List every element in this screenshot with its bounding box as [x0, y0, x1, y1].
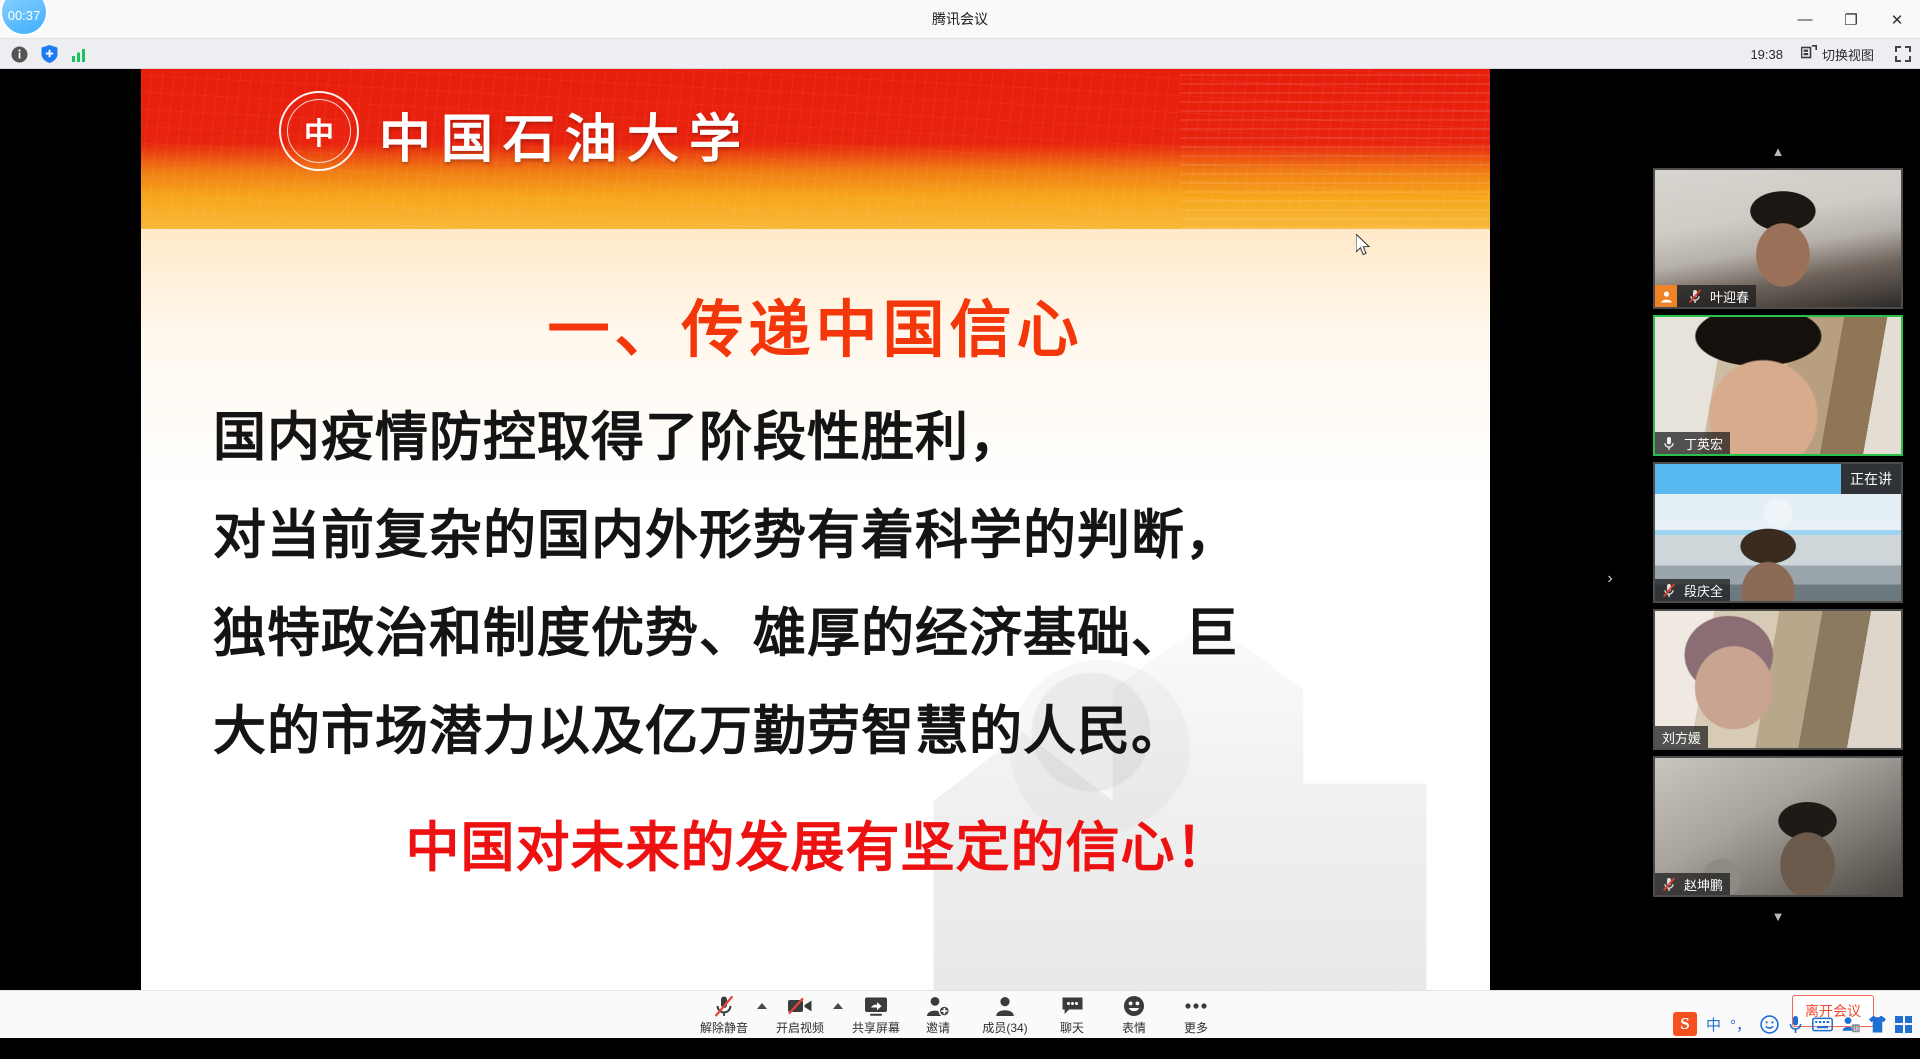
university-name: 中国石油大学	[379, 97, 751, 172]
mic-muted-icon	[1658, 873, 1680, 895]
meeting-meta-bar: 19:38 切换视图	[0, 39, 1920, 69]
meeting-stage: 中 中国石油大学 一、传递中国信心 国内疫情防控取得了阶段性胜利， 对当前复杂的…	[0, 69, 1920, 990]
participant-name-bar: 赵坤鹏	[1655, 873, 1730, 895]
participant-name: 刘方媛	[1655, 728, 1701, 747]
window-title: 腾讯会议	[0, 0, 1920, 39]
ime-punctuation-toggle[interactable]: °，	[1730, 1014, 1751, 1035]
video-options-caret[interactable]	[831, 991, 845, 1039]
start-video-button[interactable]: 开启视频	[769, 991, 831, 1039]
smiley-icon[interactable]	[1760, 1015, 1779, 1034]
slide-line: 对当前复杂的国内外形势有着科学的判断，	[213, 487, 1423, 585]
participant-rail: › ▲ 叶迎春 丁英宏	[1636, 138, 1920, 1059]
unmute-button[interactable]: 解除静音	[693, 991, 755, 1039]
control-label: 表情	[1122, 1019, 1146, 1036]
rail-scroll-down-button[interactable]: ▼	[1636, 903, 1920, 929]
control-label: 成员(34)	[982, 1019, 1027, 1036]
ime-language-toggle[interactable]: 中	[1706, 1014, 1721, 1035]
switch-view-button[interactable]: 切换视图	[1797, 43, 1878, 66]
banner-right-texture	[1180, 69, 1490, 229]
mic-muted-icon	[1684, 285, 1706, 307]
chevron-right-icon[interactable]: ›	[1600, 556, 1620, 602]
participant-tile[interactable]: 刘方媛	[1653, 609, 1903, 750]
apps-grid-icon[interactable]	[1895, 1016, 1912, 1033]
keyboard-icon[interactable]	[1812, 1017, 1833, 1032]
meeting-clock: 19:38	[1750, 47, 1783, 62]
share-screen-button[interactable]: 共享屏幕	[845, 991, 907, 1039]
tshirt-icon[interactable]	[1869, 1016, 1886, 1033]
slide-line: 大的市场潜力以及亿万勤劳智慧的人民。	[213, 683, 1423, 781]
microphone-icon[interactable]	[1788, 1015, 1803, 1034]
svg-text:18: 18	[1853, 1026, 1859, 1032]
participants-button[interactable]: 成员(34)	[969, 991, 1041, 1039]
control-label: 聊天	[1060, 1019, 1084, 1036]
windows-taskbar	[0, 1038, 1920, 1052]
university-crest-icon: 中	[279, 91, 359, 171]
control-label: 更多	[1184, 1019, 1208, 1036]
control-label: 邀请	[926, 1019, 950, 1036]
window-title-bar: 腾讯会议 — ❐ ✕	[0, 0, 1920, 39]
signal-bars-icon[interactable]	[68, 43, 90, 65]
participant-name-bar: 刘方媛	[1655, 726, 1708, 748]
emoji-icon	[1123, 995, 1145, 1018]
speaking-tooltip: 正在讲	[1841, 464, 1901, 494]
control-label: 共享屏幕	[852, 1019, 900, 1036]
participant-name: 段庆全	[1684, 581, 1723, 600]
participant-name-bar: 丁英宏	[1655, 432, 1730, 454]
participant-tile[interactable]: 正在讲 段庆全	[1653, 462, 1903, 603]
participant-tile[interactable]: 丁英宏	[1653, 315, 1903, 456]
minimize-button[interactable]: —	[1782, 0, 1828, 39]
mic-muted-icon	[713, 995, 735, 1018]
participant-tile[interactable]: 叶迎春	[1653, 168, 1903, 309]
shared-slide[interactable]: 中 中国石油大学 一、传递中国信心 国内疫情防控取得了阶段性胜利， 对当前复杂的…	[141, 69, 1490, 990]
invite-user-icon	[926, 995, 950, 1018]
toolbox-icon[interactable]: 18	[1842, 1016, 1860, 1033]
control-label: 开启视频	[776, 1019, 824, 1036]
participant-name: 丁英宏	[1684, 434, 1723, 453]
participant-name: 赵坤鹏	[1684, 875, 1723, 894]
close-button[interactable]: ✕	[1874, 0, 1920, 39]
more-button[interactable]: 更多	[1165, 991, 1227, 1039]
info-icon[interactable]	[8, 43, 30, 65]
slide-accent-line: 中国对未来的发展有坚定的信心！	[213, 799, 1423, 897]
camera-off-icon	[787, 995, 813, 1018]
share-screen-icon	[863, 995, 889, 1018]
slide-line: 国内疫情防控取得了阶段性胜利，	[213, 389, 1423, 487]
meeting-controls-bar: 解除静音 开启视频 共享屏幕 邀请 成员(34)	[0, 990, 1920, 1038]
switch-view-label: 切换视图	[1822, 45, 1874, 64]
chat-icon	[1061, 995, 1084, 1018]
window-controls: — ❐ ✕	[1782, 0, 1920, 39]
mic-muted-icon	[1658, 579, 1680, 601]
emoji-button[interactable]: 表情	[1103, 991, 1165, 1039]
sogou-ime-logo-icon[interactable]: S	[1673, 1012, 1697, 1036]
switch-view-icon	[1801, 45, 1817, 63]
mic-on-icon	[1658, 432, 1680, 454]
slide-body: 一、传递中国信心 国内疫情防控取得了阶段性胜利， 对当前复杂的国内外形势有着科学…	[141, 229, 1490, 990]
ime-toolbar: S 中 °， 18	[1673, 1010, 1912, 1038]
rail-scroll-up-button[interactable]: ▲	[1636, 138, 1920, 164]
shield-plus-icon[interactable]	[38, 43, 60, 65]
participant-name-bar: 叶迎春	[1655, 285, 1756, 307]
fullscreen-icon[interactable]	[1892, 43, 1914, 65]
slide-title: 一、传递中国信心	[141, 279, 1490, 369]
slide-text-block: 国内疫情防控取得了阶段性胜利， 对当前复杂的国内外形势有着科学的判断， 独特政治…	[213, 389, 1423, 897]
audio-options-caret[interactable]	[755, 991, 769, 1039]
host-badge-icon	[1655, 285, 1677, 307]
participant-name-bar: 段庆全	[1655, 579, 1730, 601]
participant-tile[interactable]: 赵坤鹏	[1653, 756, 1903, 897]
slide-line: 独特政治和制度优势、雄厚的经济基础、巨	[213, 585, 1423, 683]
maximize-button[interactable]: ❐	[1828, 0, 1874, 39]
more-dots-icon	[1184, 995, 1208, 1018]
crest-glyph: 中	[304, 109, 334, 153]
slide-banner: 中 中国石油大学	[141, 69, 1490, 229]
control-label: 解除静音	[700, 1019, 748, 1036]
participant-name: 叶迎春	[1710, 287, 1749, 306]
invite-button[interactable]: 邀请	[907, 991, 969, 1039]
participants-icon	[994, 995, 1017, 1018]
chat-button[interactable]: 聊天	[1041, 991, 1103, 1039]
